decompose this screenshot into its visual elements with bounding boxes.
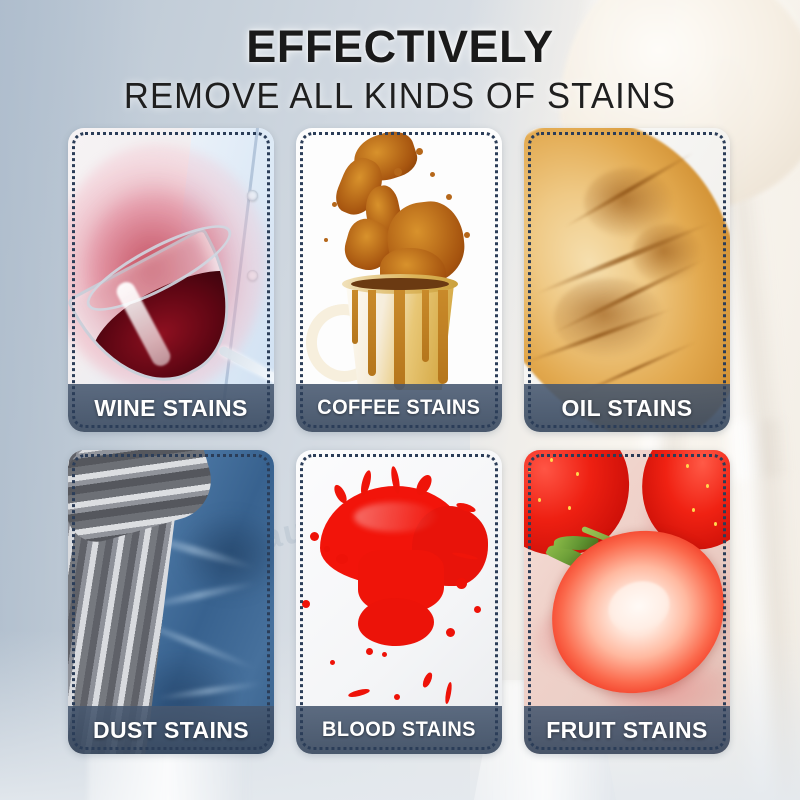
blood-highlight <box>354 502 438 532</box>
coffee-droplet <box>430 172 435 177</box>
blood-droplet <box>324 546 330 552</box>
title-line-1: EFFECTIVELY <box>0 22 800 72</box>
coffee-droplet <box>446 194 452 200</box>
stain-card-oil[interactable]: OIL STAINS <box>524 128 730 432</box>
strawberry-seed <box>528 468 531 472</box>
coffee-droplet <box>394 168 402 176</box>
coffee-drip <box>352 290 358 344</box>
page-title: EFFECTIVELY REMOVE ALL KINDS OF STAINS <box>0 22 800 118</box>
strawberry-seed <box>550 458 553 462</box>
strawberry-seed <box>706 484 709 488</box>
stain-card-dust[interactable]: DUST STAINS <box>68 450 274 754</box>
stain-card-fruit[interactable]: FRUIT STAINS <box>524 450 730 754</box>
cup-interior <box>351 278 449 290</box>
strawberry-seed <box>538 498 541 502</box>
stain-card-grid: WINE STAINS <box>68 128 734 754</box>
coffee-drip <box>422 290 429 362</box>
card-label-text: COFFEE STAINS <box>317 396 480 420</box>
card-label-bar: DUST STAINS <box>68 706 274 754</box>
card-label-text: BLOOD STAINS <box>322 718 476 742</box>
strawberry-seed <box>686 464 689 468</box>
card-label-bar: BLOOD STAINS <box>296 706 502 754</box>
strawberry-seed <box>692 508 695 512</box>
card-label-bar: OIL STAINS <box>524 384 730 432</box>
card-label-bar: WINE STAINS <box>68 384 274 432</box>
coffee-drip <box>438 290 448 384</box>
strawberry-seed <box>568 506 571 510</box>
blood-droplet <box>336 554 348 564</box>
coffee-droplet <box>416 148 423 155</box>
infographic-poster: Laundry EFFECTIVELY REMOVE ALL KINDS OF … <box>0 0 800 800</box>
stain-card-wine[interactable]: WINE STAINS <box>68 128 274 432</box>
blood-droplet <box>456 578 467 589</box>
strawberry-seed <box>714 522 717 526</box>
blood-droplet <box>302 600 310 608</box>
card-label-text: DUST STAINS <box>93 717 249 744</box>
coffee-droplet <box>324 238 328 242</box>
blood-blob-lower <box>358 598 434 646</box>
blood-droplet <box>330 660 335 665</box>
card-label-bar: COFFEE STAINS <box>296 384 502 432</box>
blood-droplet <box>310 532 319 541</box>
coffee-droplet <box>332 202 337 207</box>
coffee-drip <box>368 290 376 376</box>
card-label-text: FRUIT STAINS <box>546 717 708 744</box>
stain-card-blood[interactable]: BLOOD STAINS <box>296 450 502 754</box>
card-label-bar: FRUIT STAINS <box>524 706 730 754</box>
stain-card-coffee[interactable]: COFFEE STAINS <box>296 128 502 432</box>
blood-droplet <box>366 648 373 655</box>
card-label-text: OIL STAINS <box>562 395 693 422</box>
blood-droplet <box>446 628 455 637</box>
coffee-drip <box>394 290 405 390</box>
title-line-2: REMOVE ALL KINDS OF STAINS <box>16 74 784 118</box>
strawberry-seed <box>576 472 579 476</box>
blood-droplet <box>474 606 481 613</box>
blood-droplet <box>382 652 387 657</box>
blood-droplet <box>394 694 400 700</box>
card-label-text: WINE STAINS <box>94 395 247 422</box>
coffee-droplet <box>464 232 470 238</box>
